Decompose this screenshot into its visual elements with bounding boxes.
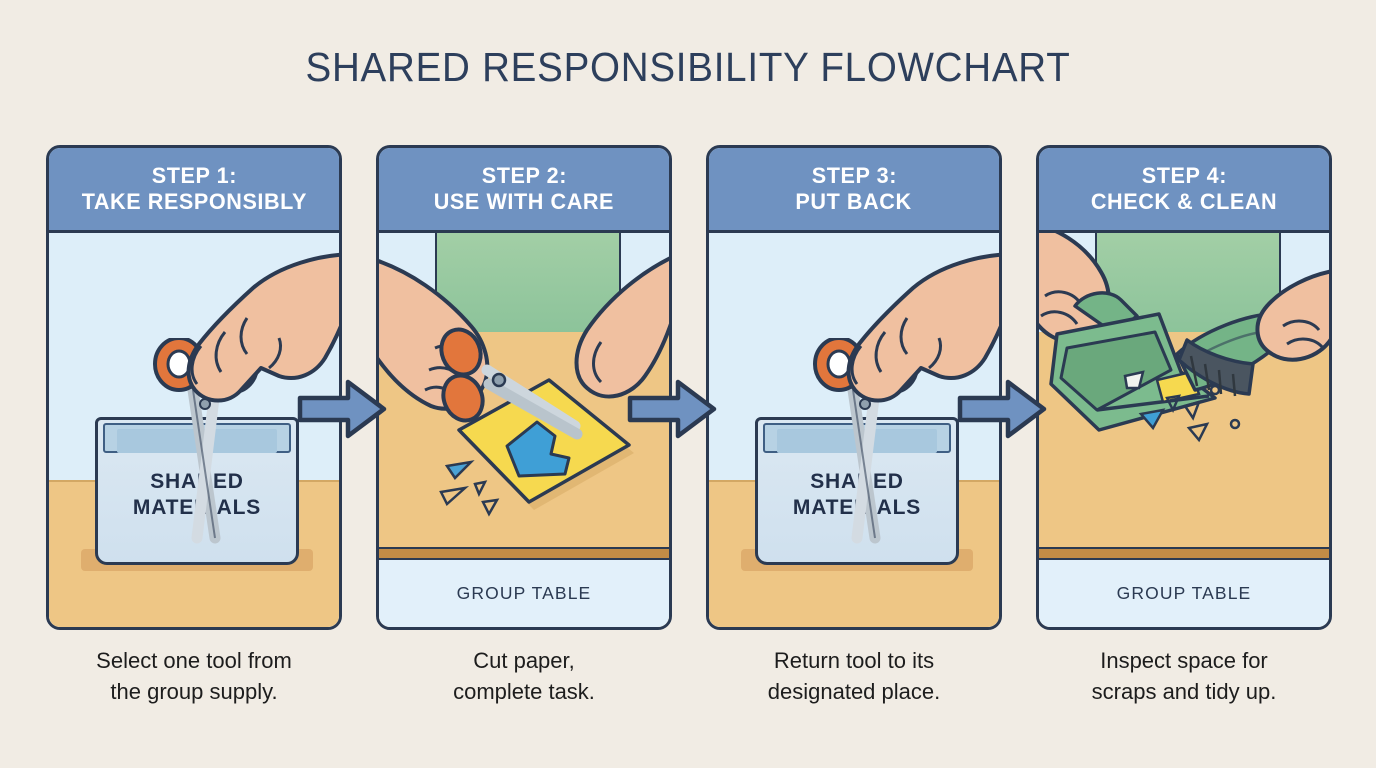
step-card-3-caption-line1: Return tool to its (706, 645, 1002, 676)
page-title: SHARED RESPONSIBILITY FLOWCHART (41, 44, 1334, 91)
arrow-right-icon (626, 378, 718, 440)
cleaning-scene (1039, 230, 1329, 627)
step-card-2-caption: Cut paper, complete task. (376, 645, 672, 707)
step-card-3-header: STEP 3: PUT BACK (709, 148, 999, 233)
step-card-2-header-line1: STEP 2: (481, 163, 566, 189)
step-card-4-header-line1: STEP 4: (1141, 163, 1226, 189)
step-card-4-illustration: GROUP TABLE (1039, 230, 1329, 627)
step-card-2-caption-line2: complete task. (376, 676, 672, 707)
step-card-1-caption-line2: the group supply. (46, 676, 342, 707)
step-card-4-header-line2: CHECK & CLEAN (1091, 189, 1277, 215)
paper-scraps (441, 462, 497, 514)
step-card-3-caption-line2: designated place. (706, 676, 1002, 707)
step-card-4-caption: Inspect space for scraps and tidy up. (1036, 645, 1332, 707)
step-card-2-header: STEP 2: USE WITH CARE (379, 148, 669, 233)
paper-sheet (459, 380, 634, 510)
step-card-1-header: STEP 1: TAKE RESPONSIBLY (49, 148, 339, 233)
step-card-4-header: STEP 4: CHECK & CLEAN (1039, 148, 1329, 233)
right-hand-icon (1257, 270, 1329, 360)
step-card-1-caption: Select one tool from the group supply. (46, 645, 342, 707)
step-card-4[interactable]: STEP 4: CHECK & CLEAN (1036, 145, 1332, 630)
arrow-right-icon (956, 378, 1048, 440)
step-card-4-frame: STEP 4: CHECK & CLEAN (1036, 145, 1332, 630)
arrow-right-icon (296, 378, 388, 440)
step-card-2-caption-line1: Cut paper, (376, 645, 672, 676)
flowchart-steps-container: STEP 1: TAKE RESPONSIBLY (46, 145, 1331, 705)
step-card-1-caption-line1: Select one tool from (46, 645, 342, 676)
step-card-4-caption-line2: scraps and tidy up. (1036, 676, 1332, 707)
step-card-3-header-line2: PUT BACK (796, 189, 912, 215)
step-card-1-header-line1: STEP 1: (151, 163, 236, 189)
right-hand-icon (577, 254, 670, 397)
step-card-4-caption-line1: Inspect space for (1036, 645, 1332, 676)
step-card-1-header-line2: TAKE RESPONSIBLY (81, 189, 306, 215)
step-card-2-header-line2: USE WITH CARE (434, 189, 614, 215)
step-card-3-header-line1: STEP 3: (811, 163, 896, 189)
step-card-3-caption: Return tool to its designated place. (706, 645, 1002, 707)
